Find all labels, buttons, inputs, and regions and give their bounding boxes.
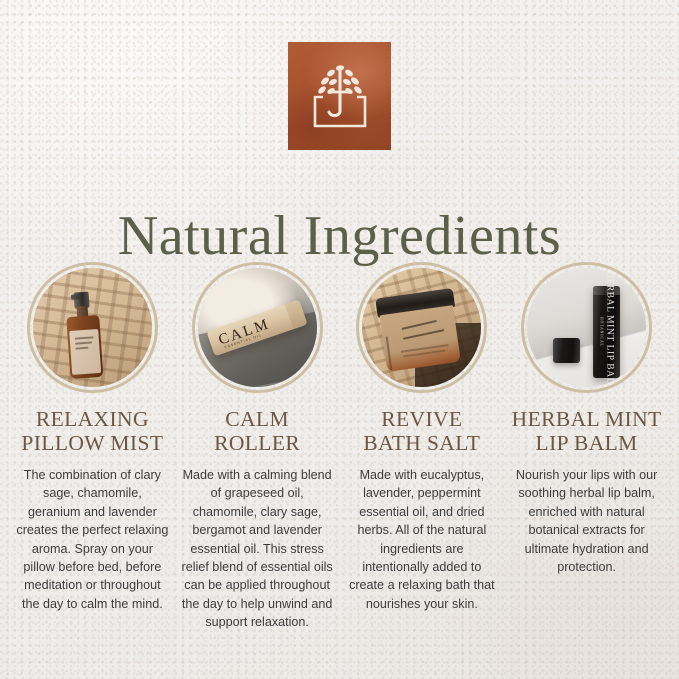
- page-title: Natural Ingredients: [0, 206, 679, 266]
- product-name: REVIVE BATH SALT: [363, 407, 480, 457]
- product-description: Made with eucalyptus, lavender, peppermi…: [346, 466, 498, 613]
- product-description: Made with a calming blend of grapeseed o…: [181, 466, 333, 631]
- nozzle-icon: [71, 294, 84, 300]
- product-card-relaxing-pillow-mist[interactable]: RELAXING PILLOW MIST The combination of …: [12, 262, 173, 644]
- product-name-line2: LIP BALM: [512, 431, 662, 455]
- product-name-line2: BATH SALT: [363, 431, 480, 455]
- bottle-body: [66, 315, 103, 379]
- calm-roller-photo: CALM ESSENTIAL OIL: [198, 268, 317, 387]
- product-name: HERBAL MINT LIP BALM: [512, 407, 662, 457]
- brand-logo-container: [0, 42, 679, 150]
- tube-label-sub: BOTANICAL: [599, 271, 603, 387]
- product-name: RELAXING PILLOW MIST: [21, 407, 163, 457]
- product-image-circle[interactable]: [356, 262, 487, 393]
- lip-balm-tube-illustration: HERBAL MINT LIP BALM BOTANICAL: [593, 286, 620, 378]
- product-card-revive-bath-salt[interactable]: REVIVE BATH SALT Made with eucalyptus, l…: [342, 262, 503, 644]
- product-description: Nourish your lips with our soothing herb…: [511, 466, 663, 576]
- product-description: The combination of clary sage, chamomile…: [16, 466, 168, 613]
- product-name: CALM ROLLER: [214, 407, 300, 457]
- tree-in-frame-logo-icon: [288, 42, 391, 150]
- roller-cap: [285, 299, 308, 328]
- product-name-line2: ROLLER: [214, 431, 300, 455]
- tube-label-text: HERBAL MINT LIP BALM BOTANICAL: [599, 271, 614, 387]
- product-image-circle[interactable]: [27, 262, 158, 393]
- jar-label-script-line2: [403, 329, 444, 340]
- product-name-line1: CALM: [214, 407, 300, 431]
- product-image-circle[interactable]: CALM ESSENTIAL OIL: [192, 262, 323, 393]
- product-grid: RELAXING PILLOW MIST The combination of …: [12, 262, 667, 644]
- product-card-calm-roller[interactable]: CALM ESSENTIAL OIL CALM ROLLER Made with…: [177, 262, 338, 644]
- bottle-label: [69, 329, 101, 375]
- product-name-line1: RELAXING: [21, 407, 163, 431]
- product-card-herbal-mint-lip-balm[interactable]: HERBAL MINT LIP BALM BOTANICAL HERBAL MI…: [506, 262, 667, 644]
- spray-bottle-illustration: [65, 291, 104, 379]
- product-name-line2: PILLOW MIST: [21, 431, 163, 455]
- natural-ingredients-infographic: Natural Ingredients RELAXING PILLOW MI: [0, 0, 679, 679]
- lip-balm-cap: [553, 338, 580, 363]
- tube-label-main: HERBAL MINT LIP BALM: [604, 271, 614, 387]
- bath-soak-jar-illustration: [376, 288, 464, 372]
- jar-body: [380, 305, 461, 372]
- product-image-circle[interactable]: HERBAL MINT LIP BALM BOTANICAL: [521, 262, 652, 393]
- jar-side-text: [386, 336, 393, 370]
- jar-label-script-line1: [402, 320, 438, 330]
- relaxing-pillow-mist-photo: [33, 268, 152, 387]
- product-name-line1: HERBAL MINT: [512, 407, 662, 431]
- revive-bath-soak-photo: [362, 268, 481, 387]
- product-name-line1: REVIVE: [363, 407, 480, 431]
- herbal-mint-lip-balm-photo: HERBAL MINT LIP BALM BOTANICAL: [527, 268, 646, 387]
